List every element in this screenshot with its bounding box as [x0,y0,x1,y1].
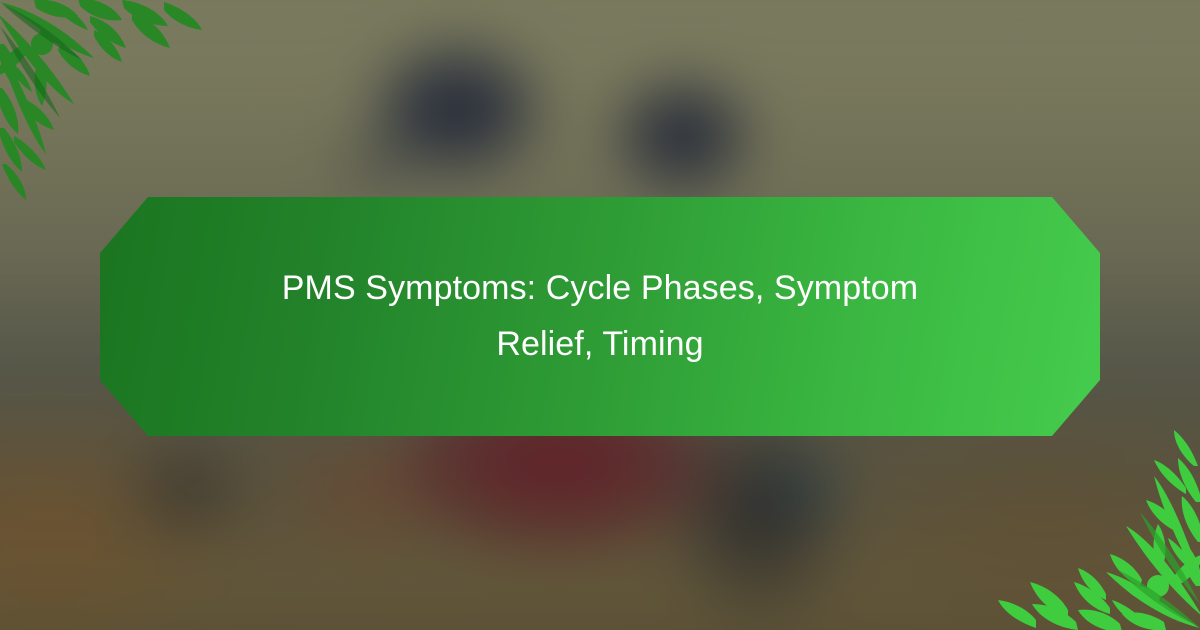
title-banner: PMS Symptoms: Cycle Phases, Symptom Reli… [100,197,1100,436]
page-title: PMS Symptoms: Cycle Phases, Symptom Reli… [250,261,950,371]
banner-card: PMS Symptoms: Cycle Phases, Symptom Reli… [0,0,1200,630]
